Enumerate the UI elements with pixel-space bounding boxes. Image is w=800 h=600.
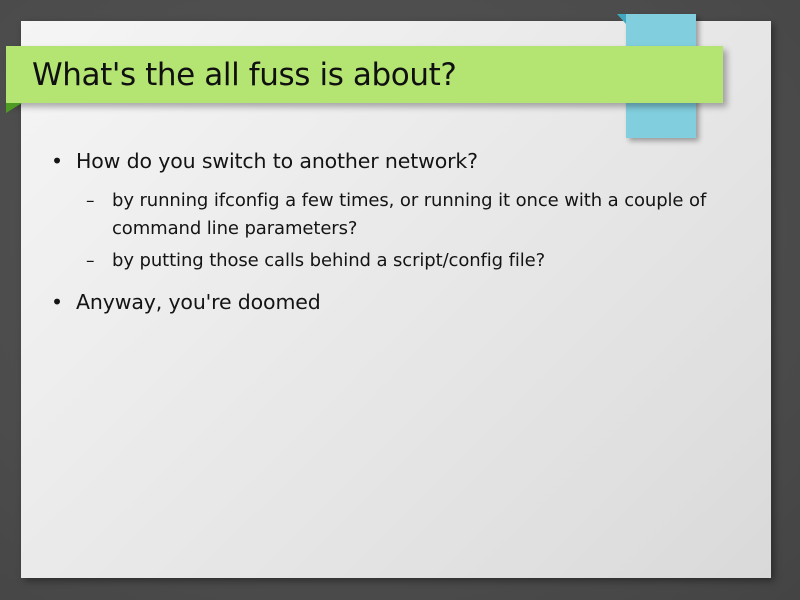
slide-body: • How do you switch to another network? … [46, 146, 746, 324]
list-item-text: Anyway, you're doomed [76, 290, 321, 314]
list-item-text: by putting those calls behind a script/c… [112, 250, 545, 271]
green-banner-fold-icon [6, 103, 22, 113]
bullet-marker-icon: • [51, 146, 63, 177]
blue-accent-fold-icon [617, 14, 626, 24]
bullet-marker-icon: • [51, 287, 63, 318]
list-item: • How do you switch to another network? [46, 146, 746, 177]
list-item: • Anyway, you're doomed [46, 287, 746, 318]
presentation-canvas: What's the all fuss is about? • How do y… [0, 0, 800, 600]
list-item: – by running ifconfig a few times, or ru… [46, 187, 746, 243]
dash-marker-icon: – [86, 187, 94, 215]
slide-title: What's the all fuss is about? [32, 50, 702, 100]
list-item-text: How do you switch to another network? [76, 149, 478, 173]
list-item-text: by running ifconfig a few times, or runn… [112, 190, 706, 239]
list-item: – by putting those calls behind a script… [46, 247, 746, 275]
dash-marker-icon: – [86, 247, 94, 275]
